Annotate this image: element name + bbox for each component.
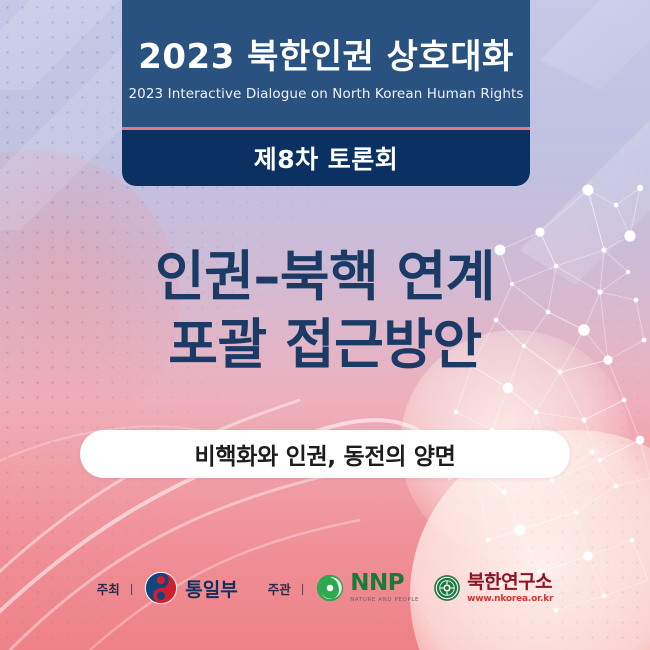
nnp-wordmark: NNP NATURE AND PEOPLE bbox=[350, 572, 419, 604]
subtitle-pill: 비핵화와 인권, 동전의 양면 bbox=[80, 430, 570, 478]
page-title: 인권–북핵 연계 포괄 접근방안 bbox=[0, 243, 650, 379]
organizer-separator: ㅣ bbox=[297, 579, 309, 598]
institute-group: 북한연구소 www.nkorea.or.kr bbox=[433, 573, 553, 604]
institute-emblem-icon bbox=[433, 574, 461, 602]
subtitle-text: 비핵화와 인권, 동전의 양면 bbox=[194, 437, 455, 471]
host-separator: ㅣ bbox=[126, 579, 138, 598]
session-label: 제8차 토론회 bbox=[254, 140, 399, 176]
footer-logos: 주최 ㅣ 통일부 주관 ㅣ NNP NATURE AN bbox=[0, 563, 650, 613]
main-title-line-1: 인권–북핵 연계 bbox=[0, 243, 650, 311]
event-title-english: 2023 Interactive Dialogue on North Korea… bbox=[128, 86, 523, 102]
host-label: 주최 bbox=[97, 579, 120, 598]
organizer-label: 주관 bbox=[268, 579, 291, 598]
institute-name: 북한연구소 bbox=[467, 573, 553, 592]
institute-wordmark: 북한연구소 www.nkorea.or.kr bbox=[467, 573, 553, 604]
institute-url: www.nkorea.or.kr bbox=[467, 595, 553, 604]
nnp-logo-icon bbox=[315, 573, 345, 603]
event-title-korean: 2023 북한인권 상호대화 bbox=[138, 39, 514, 76]
taegeuk-icon bbox=[144, 571, 178, 605]
organizer-group: 주관 ㅣ NNP NATURE AND PEOPLE bbox=[268, 572, 419, 604]
host-name: 통일부 bbox=[185, 575, 237, 602]
host-group: 주최 ㅣ 통일부 bbox=[97, 571, 238, 605]
main-title-line-2: 포괄 접근방안 bbox=[0, 311, 650, 379]
nnp-tagline: NATURE AND PEOPLE bbox=[350, 598, 419, 604]
poster-canvas: 2023 북한인권 상호대화 2023 Interactive Dialogue… bbox=[0, 0, 650, 650]
header-band: 2023 북한인권 상호대화 2023 Interactive Dialogue… bbox=[122, 0, 530, 127]
nnp-name: NNP bbox=[350, 572, 419, 595]
session-band: 제8차 토론회 bbox=[122, 130, 530, 186]
